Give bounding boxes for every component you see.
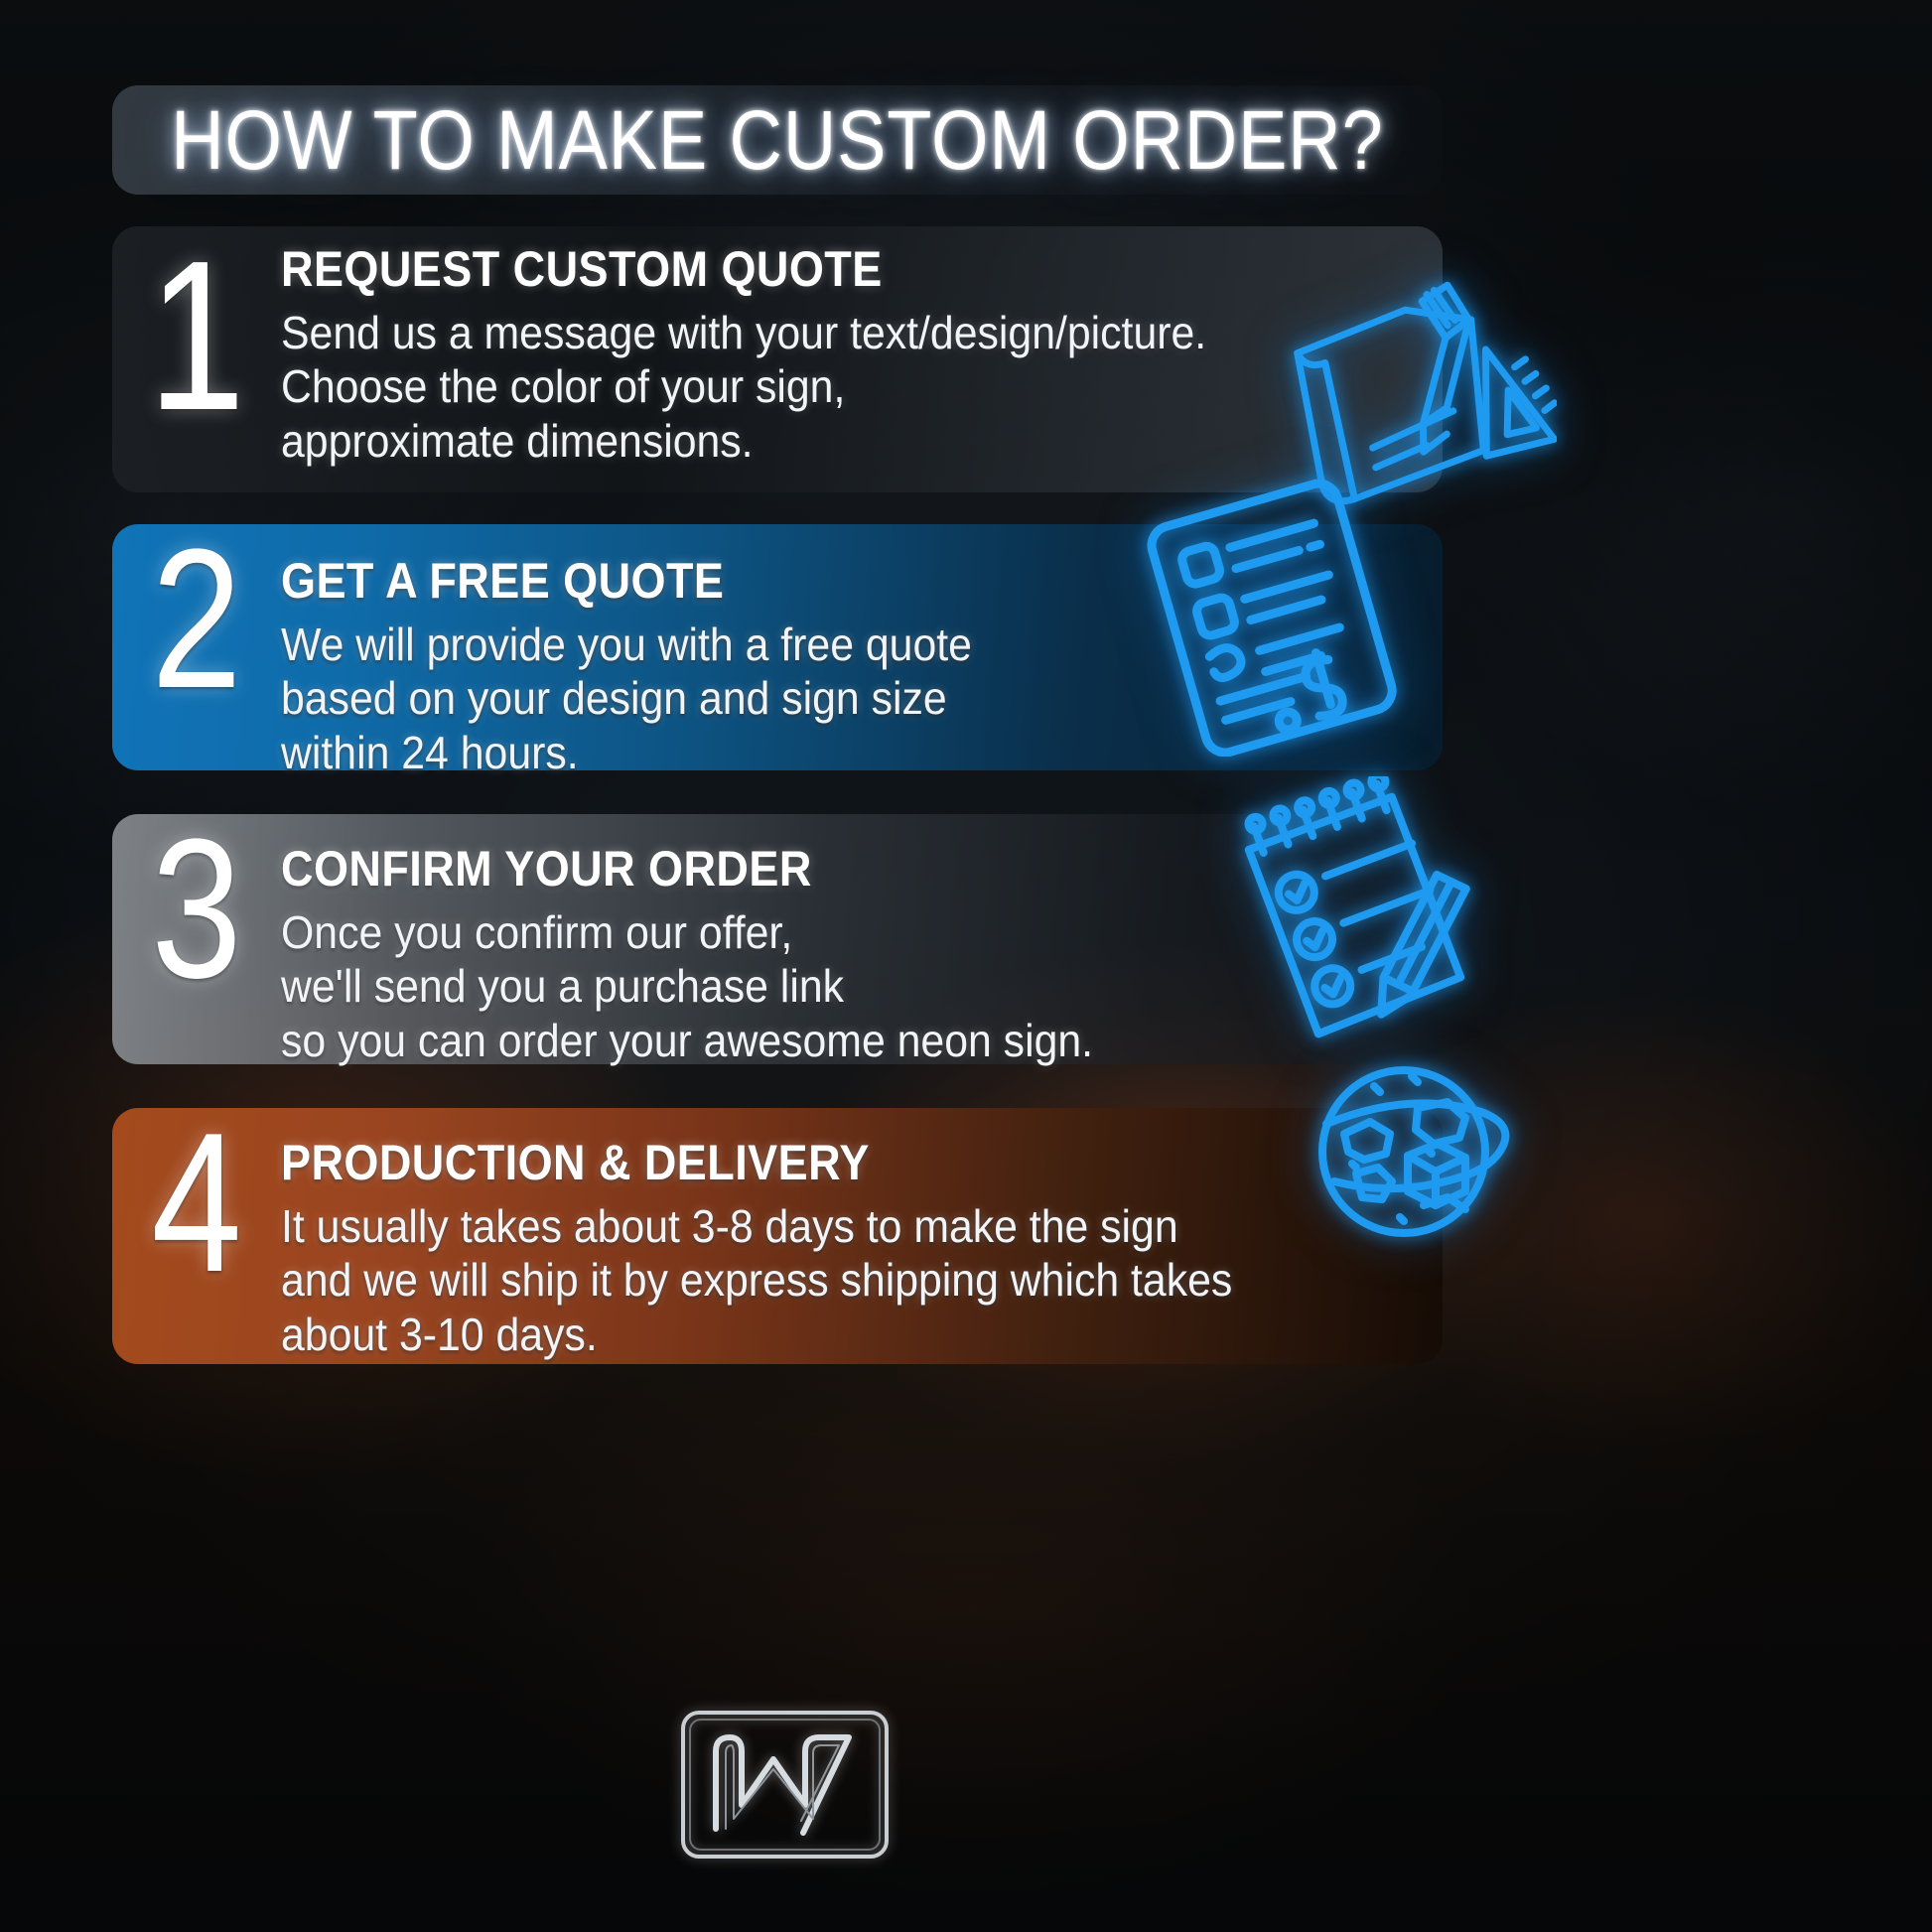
step-heading-2: GET A FREE QUOTE — [281, 552, 1326, 610]
step-card-3: 3 CONFIRM YOUR ORDER Once you confirm ou… — [112, 814, 1443, 1064]
step-number-4: 4 — [127, 1108, 265, 1299]
step-card-4: 4 PRODUCTION & DELIVERY It usually takes… — [112, 1108, 1443, 1364]
step-text-1: Send us a message with your text/design/… — [281, 306, 1361, 468]
title-banner: HOW TO MAKE CUSTOM ORDER? — [112, 85, 1443, 195]
step-heading-1: REQUEST CUSTOM QUOTE — [281, 240, 1326, 298]
step-card-2: 2 GET A FREE QUOTE We will provide you w… — [112, 524, 1443, 770]
step-body-1: REQUEST CUSTOM QUOTE Send us a message w… — [281, 226, 1443, 468]
step-number-1: 1 — [127, 226, 265, 444]
step-text-2: We will provide you with a free quote ba… — [281, 618, 1361, 779]
step-text-4: It usually takes about 3-8 days to make … — [281, 1199, 1361, 1361]
step-heading-4: PRODUCTION & DELIVERY — [281, 1134, 1326, 1191]
step-heading-3: CONFIRM YOUR ORDER — [281, 840, 1326, 897]
step-body-4: PRODUCTION & DELIVERY It usually takes a… — [281, 1108, 1443, 1361]
step-number-2: 2 — [127, 524, 265, 715]
step-card-1: 1 REQUEST CUSTOM QUOTE Send us a message… — [112, 226, 1443, 492]
step-number-3: 3 — [127, 814, 265, 1005]
step-body-3: CONFIRM YOUR ORDER Once you confirm our … — [281, 814, 1443, 1067]
ln-neon-monogram-logo — [678, 1708, 892, 1862]
step-text-3: Once you confirm our offer, we'll send y… — [281, 905, 1361, 1067]
page-title: HOW TO MAKE CUSTOM ORDER? — [171, 92, 1383, 189]
infographic-canvas: HOW TO MAKE CUSTOM ORDER? 1 REQUEST CUST… — [0, 0, 1932, 1932]
step-body-2: GET A FREE QUOTE We will provide you wit… — [281, 524, 1443, 779]
